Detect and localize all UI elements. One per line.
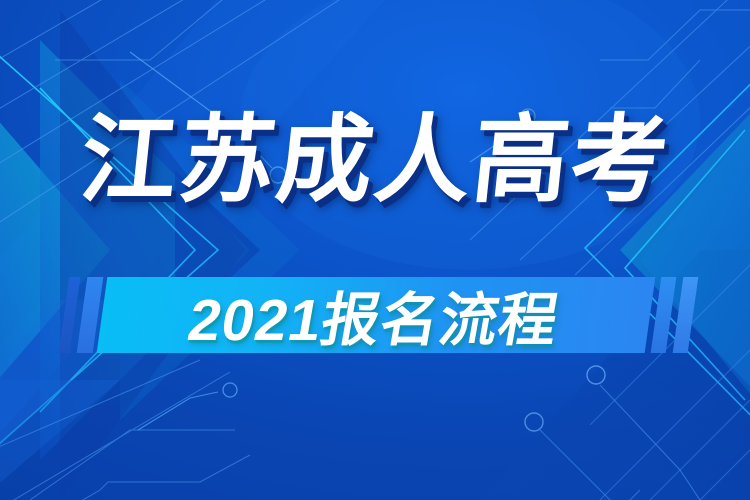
background-decoration [0,0,750,500]
subtitle-bar-group [0,272,750,358]
subtitle-bar-fill [97,277,656,353]
subtitle-bar-left-accent-1 [59,277,81,353]
banner-title-container: 江苏成人高考 [0,112,750,210]
circuit-node-icon [223,383,237,397]
subtitle-bar-right-accent-1 [651,277,677,353]
circuit-trace-node-bottom-left [138,383,237,430]
circuit-node-icon [525,413,543,431]
promo-banner: 江苏成人高考 2021报名流程 [0,0,750,500]
subtitle-bar-right-accent-2 [673,277,699,353]
banner-title: 江苏成人高考 [76,112,674,210]
